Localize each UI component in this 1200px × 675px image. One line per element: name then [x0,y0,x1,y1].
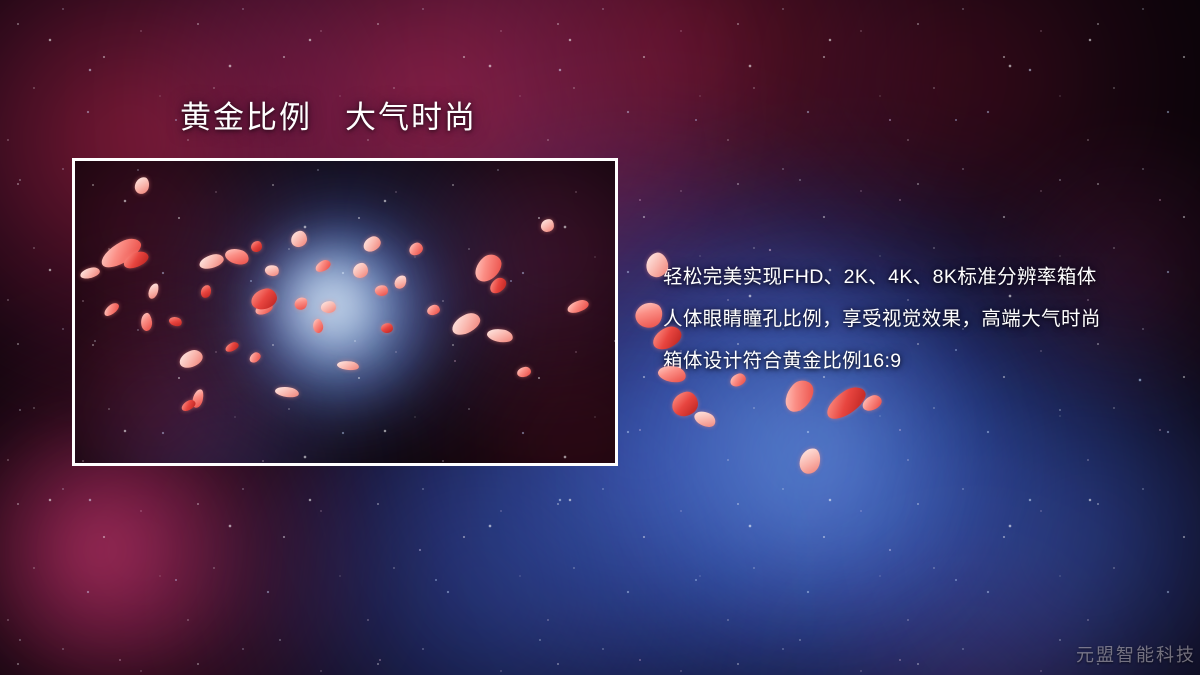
body-text-block: 轻松完美实现FHD、2K、4K、8K标准分辨率箱体 人体眼睛瞳孔比例，享受视觉效… [663,256,1163,382]
framed-image [72,158,618,466]
slide-title: 黄金比例 大气时尚 [180,101,477,134]
watermark: 元盟智能科技 [1076,641,1196,667]
body-line-2: 人体眼睛瞳孔比例，享受视觉效果，高端大气时尚 [663,298,1163,340]
presentation-slide: 黄金比例 大气时尚 [0,0,1200,675]
body-line-1: 轻松完美实现FHD、2K、4K、8K标准分辨率箱体 [663,256,1163,298]
framed-image-content [75,161,615,463]
